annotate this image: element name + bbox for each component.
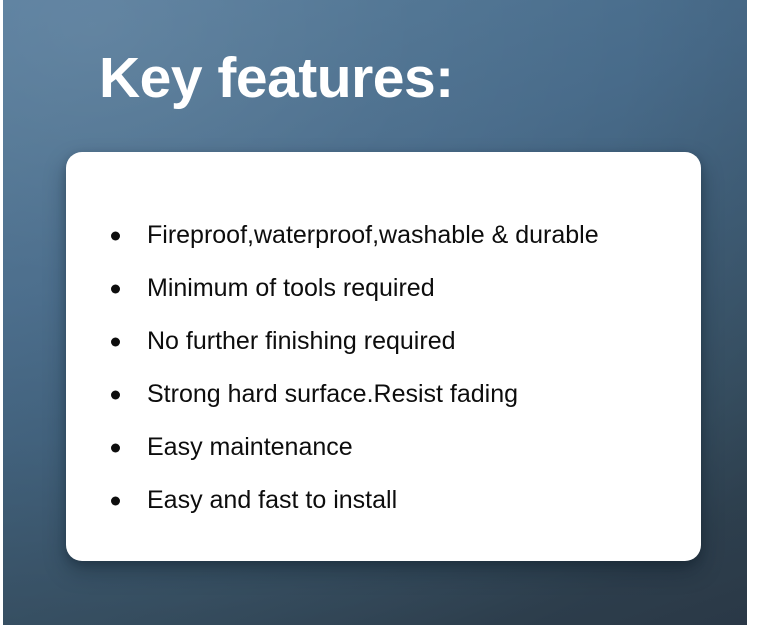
list-item: Easy and fast to install (111, 474, 681, 527)
bullet-icon (111, 496, 120, 505)
features-list: Fireproof,waterproof,washable & durable … (111, 209, 681, 527)
list-item: Easy maintenance (111, 421, 681, 474)
features-card: Fireproof,waterproof,washable & durable … (66, 152, 701, 561)
list-item: Fireproof,waterproof,washable & durable (111, 209, 681, 262)
list-item: Strong hard surface.Resist fading (111, 368, 681, 421)
list-item: No further finishing required (111, 315, 681, 368)
bullet-icon (111, 443, 120, 452)
bullet-icon (111, 231, 120, 240)
slide-canvas: Key features: Fireproof,waterproof,washa… (3, 0, 747, 625)
list-item-label: Easy maintenance (147, 421, 353, 474)
list-item-label: Strong hard surface.Resist fading (147, 368, 518, 421)
list-item-label: Minimum of tools required (147, 262, 435, 315)
list-item-label: No further finishing required (147, 315, 456, 368)
bullet-icon (111, 284, 120, 293)
bullet-icon (111, 390, 120, 399)
list-item: Minimum of tools required (111, 262, 681, 315)
bullet-icon (111, 337, 120, 346)
slide-viewport: Key features: Fireproof,waterproof,washa… (0, 0, 757, 630)
list-item-label: Easy and fast to install (147, 474, 397, 527)
list-item-label: Fireproof,waterproof,washable & durable (147, 209, 599, 262)
page-title: Key features: (99, 48, 454, 110)
